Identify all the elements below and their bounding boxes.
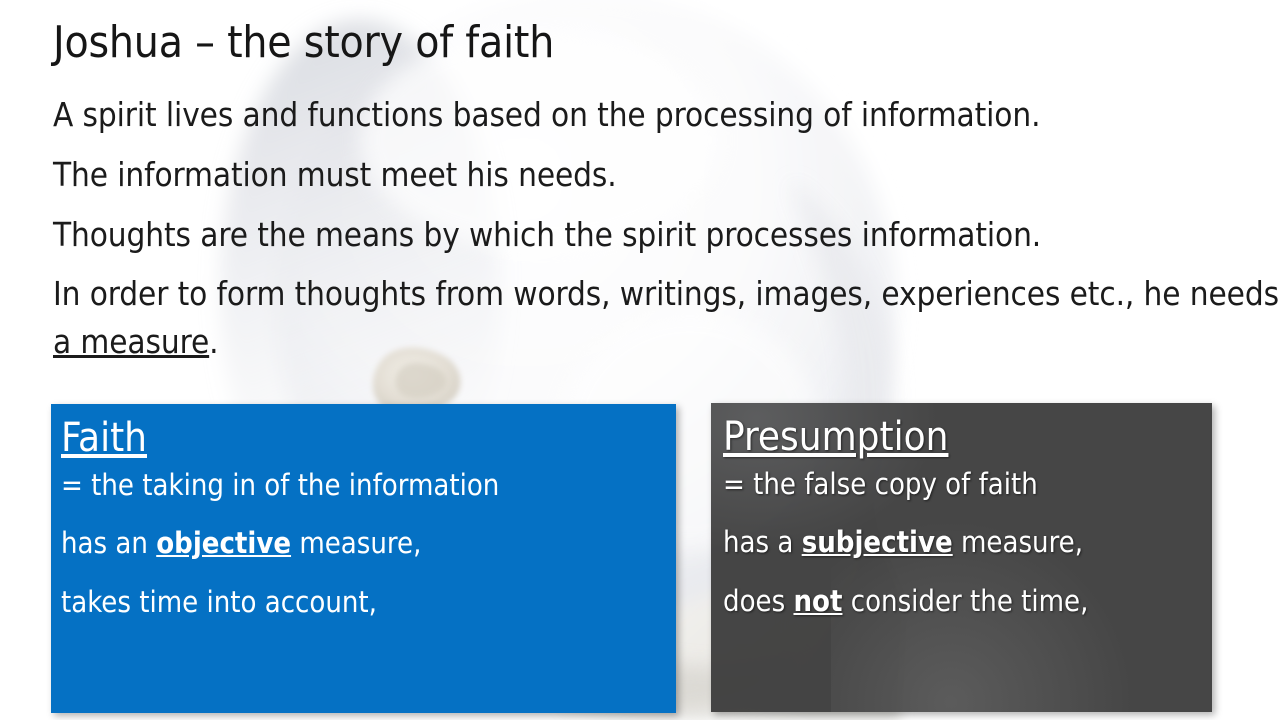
faith-panel-heading: Faith — [51, 410, 676, 458]
presumption-line1-text: = the false copy of faith — [723, 467, 1038, 501]
page-title: Joshua – the story of faith — [53, 20, 554, 66]
presumption-panel-line-2: has a subjective measure, — [711, 527, 1212, 557]
body-paragraph-5: a measure. — [53, 324, 218, 360]
faith-line2-suffix: measure, — [291, 526, 421, 560]
a-measure-period: . — [209, 322, 218, 361]
faith-panel-line-2: has an objective measure, — [51, 528, 676, 558]
body-paragraph-4: In order to form thoughts from words, wr… — [53, 276, 1279, 312]
presumption-line2-suffix: measure, — [953, 525, 1083, 559]
body-paragraph-1: A spirit lives and functions based on th… — [53, 97, 1040, 133]
faith-line2-prefix: has an — [61, 526, 156, 560]
slide-canvas: Joshua – the story of faith A spirit liv… — [0, 0, 1280, 720]
presumption-panel-heading: Presumption — [711, 409, 1212, 457]
faith-panel: Faith = the taking in of the information… — [51, 404, 676, 713]
presumption-panel-line-1: = the false copy of faith — [711, 469, 1212, 499]
faith-panel-line-3: takes time into account, — [51, 587, 676, 617]
faith-panel-line-1: = the taking in of the information — [51, 470, 676, 500]
faith-line2-emphasis-objective: objective — [156, 526, 291, 560]
faith-line3-text: takes time into account, — [61, 585, 377, 619]
presumption-line3-prefix: does — [723, 584, 793, 618]
presumption-line2-emphasis-subjective: subjective — [802, 525, 953, 559]
presumption-panel: Presumption = the false copy of faith ha… — [711, 403, 1212, 712]
presumption-panel-line-3: does not consider the time, — [711, 586, 1212, 616]
presumption-line2-prefix: has a — [723, 525, 802, 559]
body-paragraph-3: Thoughts are the means by which the spir… — [53, 217, 1041, 253]
faith-line1-text: = the taking in of the information — [61, 468, 499, 502]
a-measure-underlined-text: a measure — [53, 322, 209, 361]
body-paragraph-2: The information must meet his needs. — [53, 157, 617, 193]
presumption-line3-suffix: consider the time, — [842, 584, 1088, 618]
presumption-line3-emphasis-not: not — [793, 584, 842, 618]
